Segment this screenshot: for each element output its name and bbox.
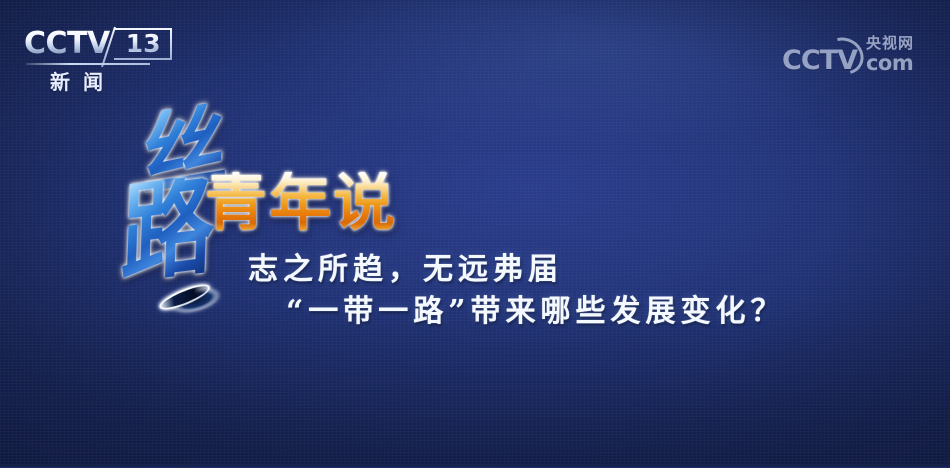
watermark-domain: com: [866, 53, 913, 74]
channel-number: 13: [126, 31, 161, 56]
watermark-arc-icon: [818, 31, 870, 82]
channel-logo-row: CCTV 13: [24, 26, 184, 62]
cctv13-channel-logo: CCTV 13 新闻: [24, 26, 184, 90]
cctv-wordmark: CCTV: [24, 29, 112, 59]
cctv-com-watermark: CCTV 央视网 com: [782, 28, 914, 74]
channel-number-badge: 13: [114, 28, 172, 60]
broadcast-frame: CCTV 13 新闻 CCTV 央视网 com 丝 路 青 年 说 志之所趋: [0, 0, 950, 468]
channel-logo-underline: [26, 63, 150, 65]
watermark-right-stack: 央视网 com: [866, 36, 914, 74]
watermark-wordmark: CCTV: [782, 47, 857, 74]
channel-name-label: 新闻: [50, 66, 116, 95]
watermark-chinese-name: 央视网: [866, 36, 914, 51]
